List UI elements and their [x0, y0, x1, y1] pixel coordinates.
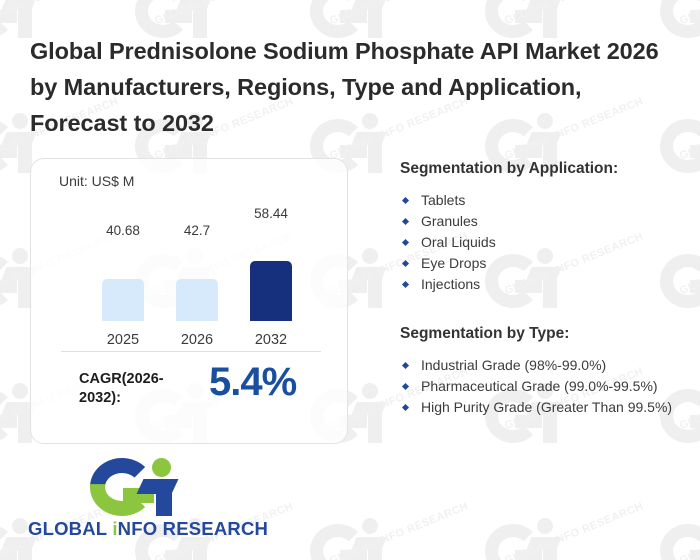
- bullet-diamond-icon: [402, 281, 409, 288]
- infographic-page: Global Prednisolone Sodium Phosphate API…: [0, 0, 700, 560]
- bullet-diamond-icon: [402, 239, 409, 246]
- chart-card: Unit: US$ M 40.68 2025 42.7 2026 58.44 2…: [30, 158, 348, 444]
- application-item-label: Granules: [421, 211, 688, 232]
- gi-logo-icon: [90, 458, 186, 516]
- cagr-row: CAGR(2026-2032): 5.4%: [31, 364, 349, 426]
- type-item-label: High Purity Grade (Greater Than 99.5%): [421, 397, 688, 418]
- bar-category-label: 2026: [160, 332, 234, 348]
- application-item: Granules: [403, 211, 688, 232]
- type-item-label: Pharmaceutical Grade (99.0%-99.5%): [421, 376, 688, 397]
- segmentation-application-list: TabletsGranulesOral LiquidsEye DropsInje…: [403, 190, 688, 295]
- bullet-diamond-icon: [402, 197, 409, 204]
- type-item: Pharmaceutical Grade (99.0%-99.5%): [403, 376, 688, 397]
- brand-name: GLOBAL iNFO RESEARCH: [28, 518, 233, 540]
- bullet-diamond-icon: [402, 404, 409, 411]
- application-item-label: Injections: [421, 274, 688, 295]
- bar-group: 40.68 2025: [86, 223, 160, 348]
- bar-value-label: 40.68: [86, 223, 160, 238]
- type-item: High Purity Grade (Greater Than 99.5%): [403, 397, 688, 418]
- cagr-value: 5.4%: [209, 360, 296, 405]
- cagr-label: CAGR(2026-2032):: [79, 370, 189, 408]
- application-item-label: Eye Drops: [421, 253, 688, 274]
- bar-group: 42.7 2026: [160, 223, 234, 348]
- logo-i-stem: [156, 489, 172, 516]
- bullet-diamond-icon: [402, 362, 409, 369]
- application-item: Injections: [403, 274, 688, 295]
- bullet-diamond-icon: [402, 383, 409, 390]
- bar-chart: 40.68 2025 42.7 2026 58.44 2032: [31, 223, 349, 348]
- segmentation-type-heading: Segmentation by Type:: [400, 325, 569, 343]
- application-item: Eye Drops: [403, 253, 688, 274]
- bar-value-label: 42.7: [160, 223, 234, 238]
- type-item-label: Industrial Grade (98%-99.0%): [421, 355, 688, 376]
- brand-name-part1: GLOBAL: [28, 518, 112, 539]
- segmentation-type-list: Industrial Grade (98%-99.0%)Pharmaceutic…: [403, 355, 688, 418]
- bar-group: 58.44 2032: [234, 223, 308, 348]
- bullet-diamond-icon: [402, 260, 409, 267]
- type-item: Industrial Grade (98%-99.0%): [403, 355, 688, 376]
- application-item-label: Tablets: [421, 190, 688, 211]
- logo-person-head: [152, 458, 171, 477]
- bar-value-label: 58.44: [234, 206, 308, 221]
- bar-category-label: 2032: [234, 332, 308, 348]
- bar-2032: [250, 261, 292, 321]
- bullet-diamond-icon: [402, 218, 409, 225]
- brand-logo: GLOBAL iNFO RESEARCH: [28, 458, 233, 540]
- bar-category-label: 2025: [86, 332, 160, 348]
- application-item: Tablets: [403, 190, 688, 211]
- chart-unit-label: Unit: US$ M: [59, 173, 134, 189]
- page-title: Global Prednisolone Sodium Phosphate API…: [30, 33, 670, 141]
- brand-name-part2: NFO RESEARCH: [118, 518, 268, 539]
- segmentation-application-heading: Segmentation by Application:: [400, 160, 618, 178]
- application-item: Oral Liquids: [403, 232, 688, 253]
- card-divider: [61, 351, 321, 352]
- bar-2025: [102, 279, 144, 321]
- bar-2026: [176, 279, 218, 321]
- application-item-label: Oral Liquids: [421, 232, 688, 253]
